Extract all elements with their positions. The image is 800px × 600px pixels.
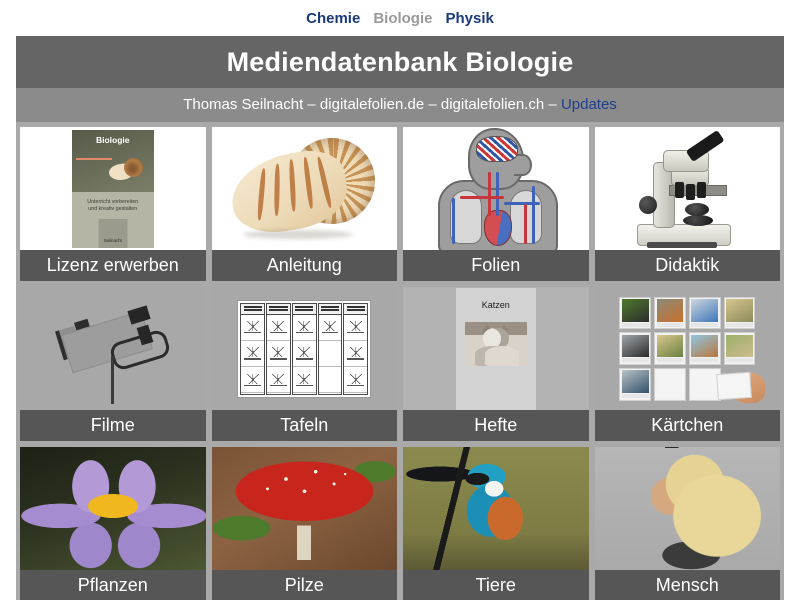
microscope-icon xyxy=(627,130,747,248)
tile-tafeln[interactable]: Tafeln xyxy=(212,287,398,441)
tile-caption[interactable]: Filme xyxy=(20,410,206,441)
tile-caption[interactable]: Anleitung xyxy=(212,250,398,281)
crocus-flower-image xyxy=(20,447,206,570)
book-shell-icon xyxy=(109,158,143,182)
crocus-thumbnail[interactable] xyxy=(20,447,206,570)
tile-caption[interactable]: Kärtchen xyxy=(595,410,781,441)
cat-photo-icon xyxy=(465,322,527,366)
nav-item-chemie[interactable]: Chemie xyxy=(306,10,360,27)
bird-flashcards-icon xyxy=(619,297,755,401)
book-publisher-name: Seilnacht xyxy=(104,238,122,248)
book-cover-icon: Biologie Unterricht vorbereiten und krea… xyxy=(72,130,154,248)
subtitle-bar: Thomas Seilnacht – digitalefolien.de – d… xyxy=(16,88,784,122)
book-cover-thumbnail[interactable]: Biologie Unterricht vorbereiten und krea… xyxy=(20,127,206,250)
fly-agaric-image xyxy=(212,447,398,570)
nautilus-shell-icon xyxy=(229,136,379,241)
book-rule xyxy=(76,158,112,160)
tile-caption[interactable]: Hefte xyxy=(403,410,589,441)
tile-caption[interactable]: Tiere xyxy=(403,570,589,600)
tile-caption[interactable]: Mensch xyxy=(595,570,781,600)
book-cover-top: Biologie xyxy=(72,130,154,192)
page-container: Mediendatenbank Biologie Thomas Seilnach… xyxy=(16,36,784,600)
kingfisher-thumbnail[interactable] xyxy=(403,447,589,570)
taxonomy-chart-icon xyxy=(237,300,371,398)
book-subtitle-line1: Unterricht vorbereiten xyxy=(72,192,154,207)
booklet-cover-icon: Katzen xyxy=(456,288,536,410)
nav-item-physik[interactable]: Physik xyxy=(445,10,493,27)
tile-mensch[interactable]: Mensch xyxy=(595,447,781,600)
taxonomy-chart-thumbnail[interactable] xyxy=(212,287,398,410)
tile-caption[interactable]: Folien xyxy=(403,250,589,281)
tile-grid: Biologie Unterricht vorbereiten und krea… xyxy=(16,122,784,600)
nautilus-thumbnail[interactable] xyxy=(212,127,398,250)
nav-item-biologie[interactable]: Biologie xyxy=(373,10,432,27)
top-navigation: Chemie Biologie Physik xyxy=(0,0,800,36)
microscope-thumbnail[interactable] xyxy=(595,127,781,250)
tile-pilze[interactable]: Pilze xyxy=(212,447,398,600)
tile-lizenz-erwerben[interactable]: Biologie Unterricht vorbereiten und krea… xyxy=(20,127,206,281)
film-camera-icon xyxy=(53,294,173,404)
page-title: Mediendatenbank Biologie xyxy=(16,36,784,88)
tile-caption[interactable]: Pilze xyxy=(212,570,398,600)
flashcards-thumbnail[interactable] xyxy=(595,287,781,410)
tile-didaktik[interactable]: Didaktik xyxy=(595,127,781,281)
tile-anleitung[interactable]: Anleitung xyxy=(212,127,398,281)
tile-caption[interactable]: Didaktik xyxy=(595,250,781,281)
tile-filme[interactable]: Filme xyxy=(20,287,206,441)
tile-pflanzen[interactable]: Pflanzen xyxy=(20,447,206,600)
floating-card xyxy=(716,371,752,399)
tile-tiere[interactable]: Tiere xyxy=(403,447,589,600)
book-publisher-logo: Seilnacht xyxy=(98,219,127,248)
kingfisher-image xyxy=(403,447,589,570)
booklet-thumbnail[interactable]: Katzen xyxy=(403,287,589,410)
mushroom-thumbnail[interactable] xyxy=(212,447,398,570)
updates-link[interactable]: Updates xyxy=(561,96,617,113)
booklet-title: Katzen xyxy=(482,300,510,310)
tile-caption[interactable]: Lizenz erwerben xyxy=(20,250,206,281)
anatomy-thumbnail[interactable] xyxy=(403,127,589,250)
film-camera-thumbnail[interactable] xyxy=(20,287,206,410)
tile-caption[interactable]: Pflanzen xyxy=(20,570,206,600)
tile-hefte[interactable]: Katzen Hefte xyxy=(403,287,589,441)
circulatory-system-icon xyxy=(426,128,566,250)
book-subtitle-line2: und kreativ gestalten xyxy=(72,206,154,214)
woman-thumbnail[interactable] xyxy=(595,447,781,570)
book-title: Biologie xyxy=(72,130,154,145)
tile-caption[interactable]: Tafeln xyxy=(212,410,398,441)
woman-profile-image xyxy=(595,447,781,570)
tile-folien[interactable]: Folien xyxy=(403,127,589,281)
subtitle-text: Thomas Seilnacht – digitalefolien.de – d… xyxy=(183,96,561,113)
tile-kaertchen[interactable]: Kärtchen xyxy=(595,287,781,441)
